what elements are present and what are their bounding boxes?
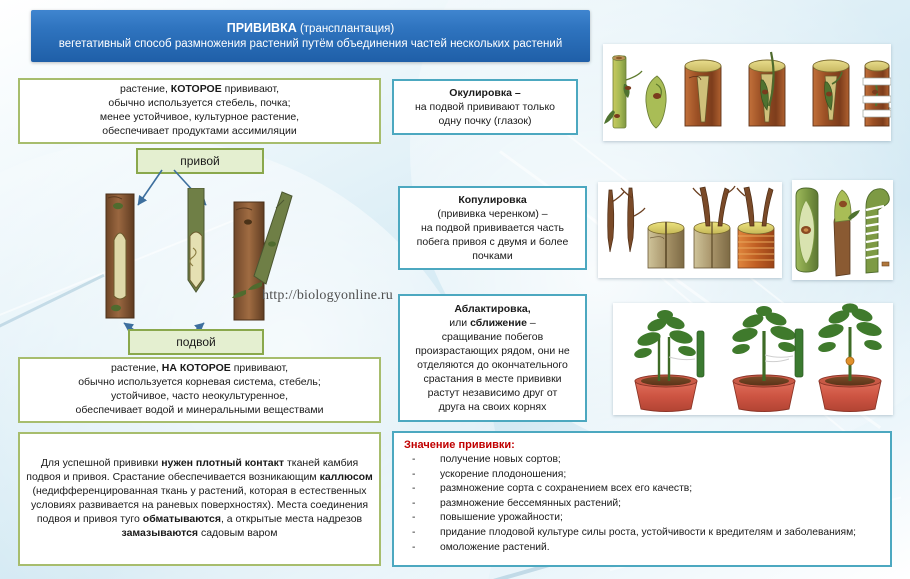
method-kopulirovka-title: Копулировка	[458, 194, 526, 206]
watermark-url: http://biologyonline.ru	[262, 288, 393, 304]
significance-box: Значение прививки: получение новых сорто…	[392, 431, 892, 567]
method-okulirovka-title: Окулировка –	[449, 87, 520, 99]
ablaktirovka-stem-illustration-panel	[792, 180, 893, 280]
scion-shoot-cut	[188, 188, 204, 292]
cleft-graft-diagram	[598, 182, 782, 278]
rootstock-description-box: растение, НА КОТОРОЕ прививают, обычно и…	[18, 357, 381, 423]
prepared-scions	[608, 188, 645, 252]
potted-plant-2	[731, 306, 803, 412]
method-okulirovka-body: на подвой прививают толькоодну почку (гл…	[415, 101, 555, 127]
wrapped-stock	[737, 187, 774, 268]
approach-graft-stem-diagram	[792, 180, 893, 280]
title-term: ПРИВИВКА	[227, 21, 297, 35]
ablaktirovka-illustration-panel	[613, 303, 893, 415]
stage-bud-shield	[646, 76, 666, 128]
scion-label: привой	[136, 148, 264, 174]
list-item: повышение урожайности;	[404, 511, 882, 526]
graft-contact-note-box: Для успешной прививки нужен плотный конт…	[18, 432, 381, 566]
stage-bud-seated	[813, 60, 849, 126]
list-item: ускорение плодоношения;	[404, 468, 882, 483]
okulirovka-illustration-panel	[603, 44, 891, 141]
stem-with-shield	[834, 190, 860, 276]
method-ablaktirovka-subtitle: или сближение –	[449, 317, 535, 329]
stage-wrapped	[863, 61, 891, 126]
stage-stock-t-cut	[685, 60, 721, 126]
method-ablaktirovka-title: Аблактировка,	[454, 303, 530, 315]
method-ablaktirovka-text: Аблактировка, или сближение – сращивание…	[409, 299, 576, 418]
potted-plant-3	[817, 303, 883, 411]
rootstock-description-text: растение, НА КОТОРОЕ прививают, обычно и…	[70, 359, 330, 421]
title-main-line: ПРИВИВКА (трансплантация)	[59, 21, 563, 36]
background-band-dark	[0, 274, 105, 329]
significance-heading: Значение прививки:	[404, 439, 882, 451]
graft-contact-note-text: Для успешной прививки нужен плотный конт…	[20, 454, 379, 544]
method-kopulirovka-text: Копулировка (прививка черенком) –на подв…	[411, 190, 575, 266]
scion-label-text: привой	[180, 154, 220, 168]
method-kopulirovka-box: Копулировка (прививка черенком) –на подв…	[398, 186, 587, 270]
stage-bud-inserted	[749, 52, 785, 126]
kopulirovka-illustration-panel	[598, 182, 782, 278]
stage-shoot-with-bud	[604, 55, 642, 128]
rootstock-stem-cut	[106, 194, 134, 318]
scion-description-box: растение, КОТОРОЕ прививают, обычно испо…	[18, 78, 381, 144]
scion-description-text: растение, КОТОРОЕ прививают, обычно испо…	[94, 80, 305, 142]
rootstock-label: подвой	[128, 329, 264, 355]
split-stock	[648, 222, 684, 268]
method-ablaktirovka-box: Аблактировка, или сближение – сращивание…	[398, 294, 587, 422]
method-okulirovka-text: Окулировка – на подвой прививают толькоо…	[409, 83, 561, 131]
list-item: размножение бессемянных растений;	[404, 497, 882, 512]
rootstock-label-text: подвой	[176, 335, 216, 349]
list-item: размножение сорта с сохранением всех его…	[404, 482, 882, 497]
potted-plant-1	[633, 310, 704, 412]
stock-with-scions	[693, 186, 735, 268]
slide-title-banner: ПРИВИВКА (трансплантация) вегетативный с…	[31, 10, 590, 62]
method-kopulirovka-body: (прививка черенком) –на подвой прививает…	[417, 208, 569, 262]
wrapped-stem	[866, 189, 889, 273]
list-item: омоложение растений.	[404, 541, 882, 556]
method-okulirovka-box: Окулировка – на подвой прививают толькоо…	[392, 79, 578, 135]
title-subtitle: вегетативный способ размножения растений…	[59, 37, 563, 51]
title-term-translation: (трансплантация)	[297, 23, 394, 35]
list-item: получение новых сортов;	[404, 453, 882, 468]
budding-stages-diagram	[603, 44, 891, 141]
slide-canvas: ПРИВИВКА (трансплантация) вегетативный с…	[0, 0, 910, 579]
method-ablaktirovka-body: сращивание побеговпроизрастающих рядом, …	[415, 331, 570, 413]
list-item: придание плодовой культуре силы роста, у…	[404, 526, 882, 541]
significance-list: получение новых сортов; ускорение плодон…	[404, 453, 882, 555]
potted-plants-approach-graft-diagram	[613, 303, 893, 415]
cut-green-stem	[796, 188, 818, 272]
